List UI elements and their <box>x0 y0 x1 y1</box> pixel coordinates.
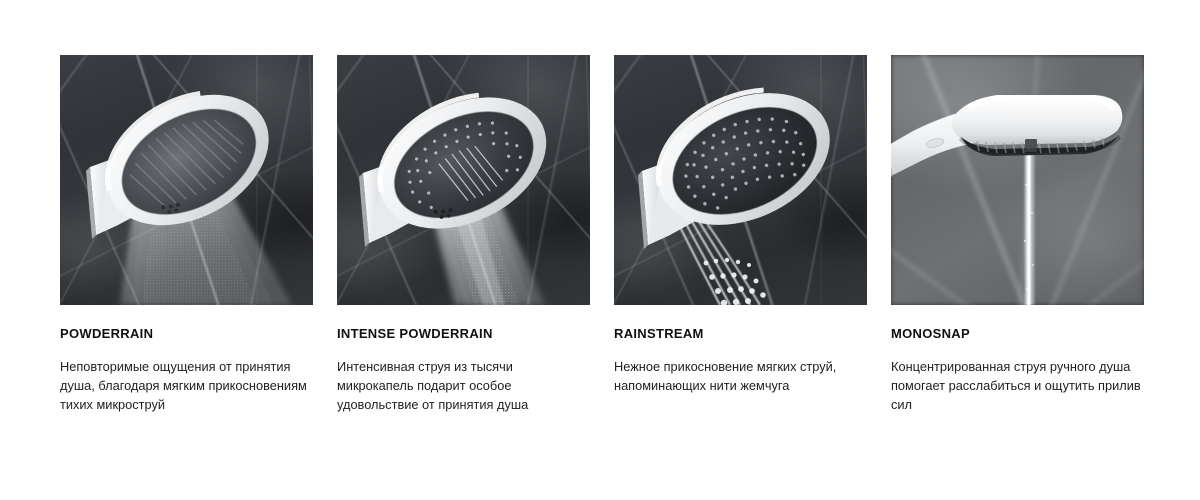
handshower-illustration <box>891 55 1144 305</box>
caption-powderrain: POWDERRAIN Неповторимые ощущения от прин… <box>60 305 313 414</box>
showerhead-illustration <box>337 55 590 305</box>
card-description: Неповторимые ощущения от принятия душа, … <box>60 357 313 414</box>
showerhead-illustration <box>60 55 313 305</box>
spray-card-powderrain[interactable]: POWDERRAIN Неповторимые ощущения от прин… <box>60 55 313 414</box>
caption-monosnap: MONOSNAP Концентрированная струя ручного… <box>891 305 1144 414</box>
spray-type-gallery: POWDERRAIN Неповторимые ощущения от прин… <box>60 55 1143 414</box>
product-image-rainstream <box>614 55 867 305</box>
card-description: Нежное прикосновение мягких струй, напом… <box>614 357 867 395</box>
showerhead-illustration <box>614 55 867 305</box>
card-title: MONOSNAP <box>891 327 1144 341</box>
product-image-intense-powderrain <box>337 55 590 305</box>
product-image-powderrain <box>60 55 313 305</box>
spray-card-monosnap[interactable]: MONOSNAP Концентрированная струя ручного… <box>891 55 1144 414</box>
card-title: INTENSE POWDERRAIN <box>337 327 590 341</box>
card-description: Интенсивная струя из тысячи микрокапель … <box>337 357 590 414</box>
card-title: RAINSTREAM <box>614 327 867 341</box>
spray-card-rainstream[interactable]: RAINSTREAM Нежное прикосновение мягких с… <box>614 55 867 414</box>
product-image-monosnap <box>891 55 1144 305</box>
card-title: POWDERRAIN <box>60 327 313 341</box>
caption-intense-powderrain: INTENSE POWDERRAIN Интенсивная струя из … <box>337 305 590 414</box>
caption-rainstream: RAINSTREAM Нежное прикосновение мягких с… <box>614 305 867 395</box>
spray-card-intense-powderrain[interactable]: INTENSE POWDERRAIN Интенсивная струя из … <box>337 55 590 414</box>
card-description: Концентрированная струя ручного душа пом… <box>891 357 1144 414</box>
